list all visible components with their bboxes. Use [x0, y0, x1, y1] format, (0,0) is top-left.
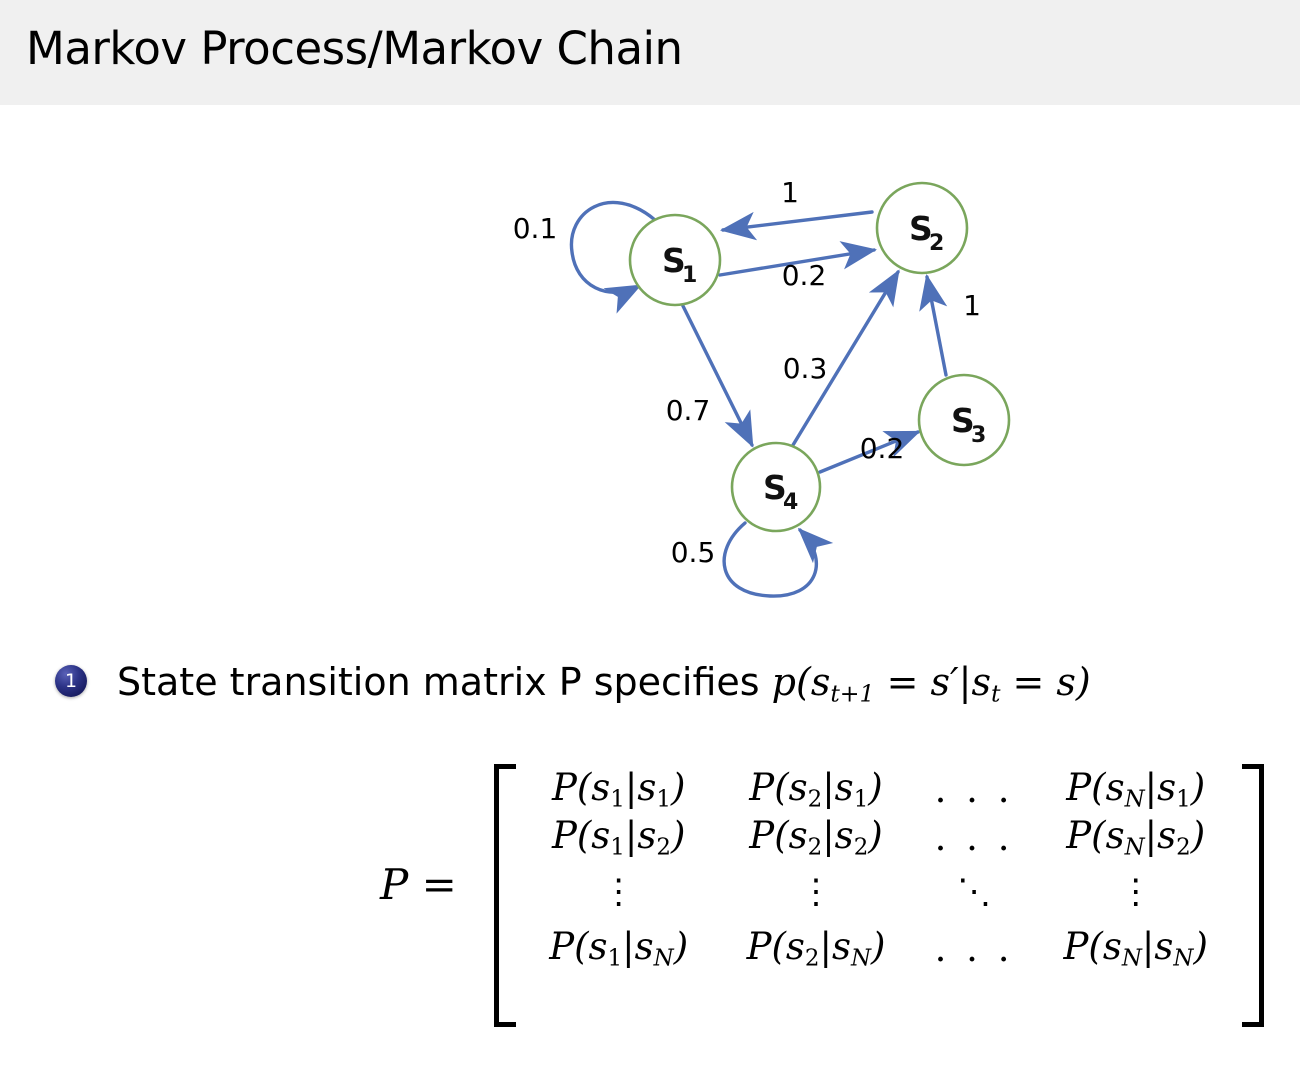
bullet-formula: p(st+1 = s′|st = s)	[772, 660, 1091, 704]
title-banner: Markov Process/Markov Chain	[0, 0, 1300, 105]
matrix-body: P(s1|s1) P(s2|s1) . . . P(sN|s1) P(s1|s2…	[488, 760, 1270, 1035]
edge-s2-to-s1	[723, 212, 872, 230]
edge-label-s1-self: 0.1	[513, 212, 558, 245]
matrix-bracket-right	[1242, 764, 1264, 1027]
matrix-row: P(s1|sN) P(s2|sN) . . . P(sN|sN)	[520, 925, 1238, 973]
bullet-text: State transition matrix P specifies p(st…	[117, 660, 1091, 708]
node-s3-subscript: 3	[971, 423, 986, 448]
node-s2-subscript: 2	[929, 231, 944, 256]
matrix-cell: P(sN|s2)	[1033, 814, 1238, 862]
matrix-cell: P(s1|sN)	[520, 925, 717, 973]
matrix-cell-ellipsis: . . .	[915, 925, 1034, 973]
page-title: Markov Process/Markov Chain	[26, 22, 683, 75]
matrix-row: P(s1|s1) P(s2|s1) . . . P(sN|s1)	[520, 766, 1238, 814]
node-s1[interactable]: S 1	[630, 215, 720, 305]
matrix-bracket-left	[494, 764, 516, 1027]
node-s2[interactable]: S 2	[877, 183, 967, 273]
matrix-cell-vdots: ⋮	[520, 861, 717, 925]
edge-label-s1-s4: 0.7	[666, 394, 711, 427]
edge-label-s1-s2: 0.2	[782, 259, 827, 292]
transition-matrix-block: P = P(s1|s1) P(s2|s1) . . . P(sN|s1) P(s…	[380, 760, 1270, 1035]
matrix-cell: P(s2|s1)	[717, 766, 914, 814]
edge-s3-to-s2	[927, 277, 946, 375]
matrix-cell-ddots: ⋱	[915, 861, 1034, 925]
bullet-number-badge: 1	[55, 665, 87, 697]
bullet-row: 1 State transition matrix P specifies p(…	[55, 660, 1275, 720]
matrix-cell: P(sN|s1)	[1033, 766, 1238, 814]
matrix-lhs-label: P =	[380, 860, 457, 909]
edge-label-s4-s2: 0.3	[783, 352, 828, 385]
matrix-cell: P(s2|s2)	[717, 814, 914, 862]
matrix-cell-ellipsis: . . .	[915, 814, 1034, 862]
node-s4[interactable]: S 4	[732, 443, 820, 531]
matrix-cell: P(s1|s1)	[520, 766, 717, 814]
matrix-cell: P(s1|s2)	[520, 814, 717, 862]
matrix-cell-vdots: ⋮	[717, 861, 914, 925]
edge-label-s4-self: 0.5	[671, 536, 716, 569]
node-s3[interactable]: S 3	[919, 375, 1009, 465]
edge-label-s2-s1: 1	[781, 176, 799, 209]
node-s4-subscript: 4	[783, 490, 798, 515]
matrix-table: P(s1|s1) P(s2|s1) . . . P(sN|s1) P(s1|s2…	[520, 766, 1238, 973]
edge-label-s4-s3: 0.2	[860, 432, 905, 465]
matrix-cell: P(sN|sN)	[1033, 925, 1238, 973]
edge-s4-self	[724, 523, 816, 596]
markov-chain-diagram: S 1 S 2 S 3 S 4 0.1 1 0.2 0.7 0.3 1 0.2 …	[0, 120, 1300, 630]
matrix-cell-ellipsis: . . .	[915, 766, 1034, 814]
node-s1-subscript: 1	[682, 263, 697, 288]
matrix-row: P(s1|s2) P(s2|s2) . . . P(sN|s2)	[520, 814, 1238, 862]
matrix-cell-vdots: ⋮	[1033, 861, 1238, 925]
matrix-cell: P(s2|sN)	[717, 925, 914, 973]
bullet-text-prefix: State transition matrix P specifies	[117, 660, 772, 704]
edge-label-s3-s2: 1	[963, 289, 981, 322]
matrix-row-ellipsis: ⋮ ⋮ ⋱ ⋮	[520, 861, 1238, 925]
